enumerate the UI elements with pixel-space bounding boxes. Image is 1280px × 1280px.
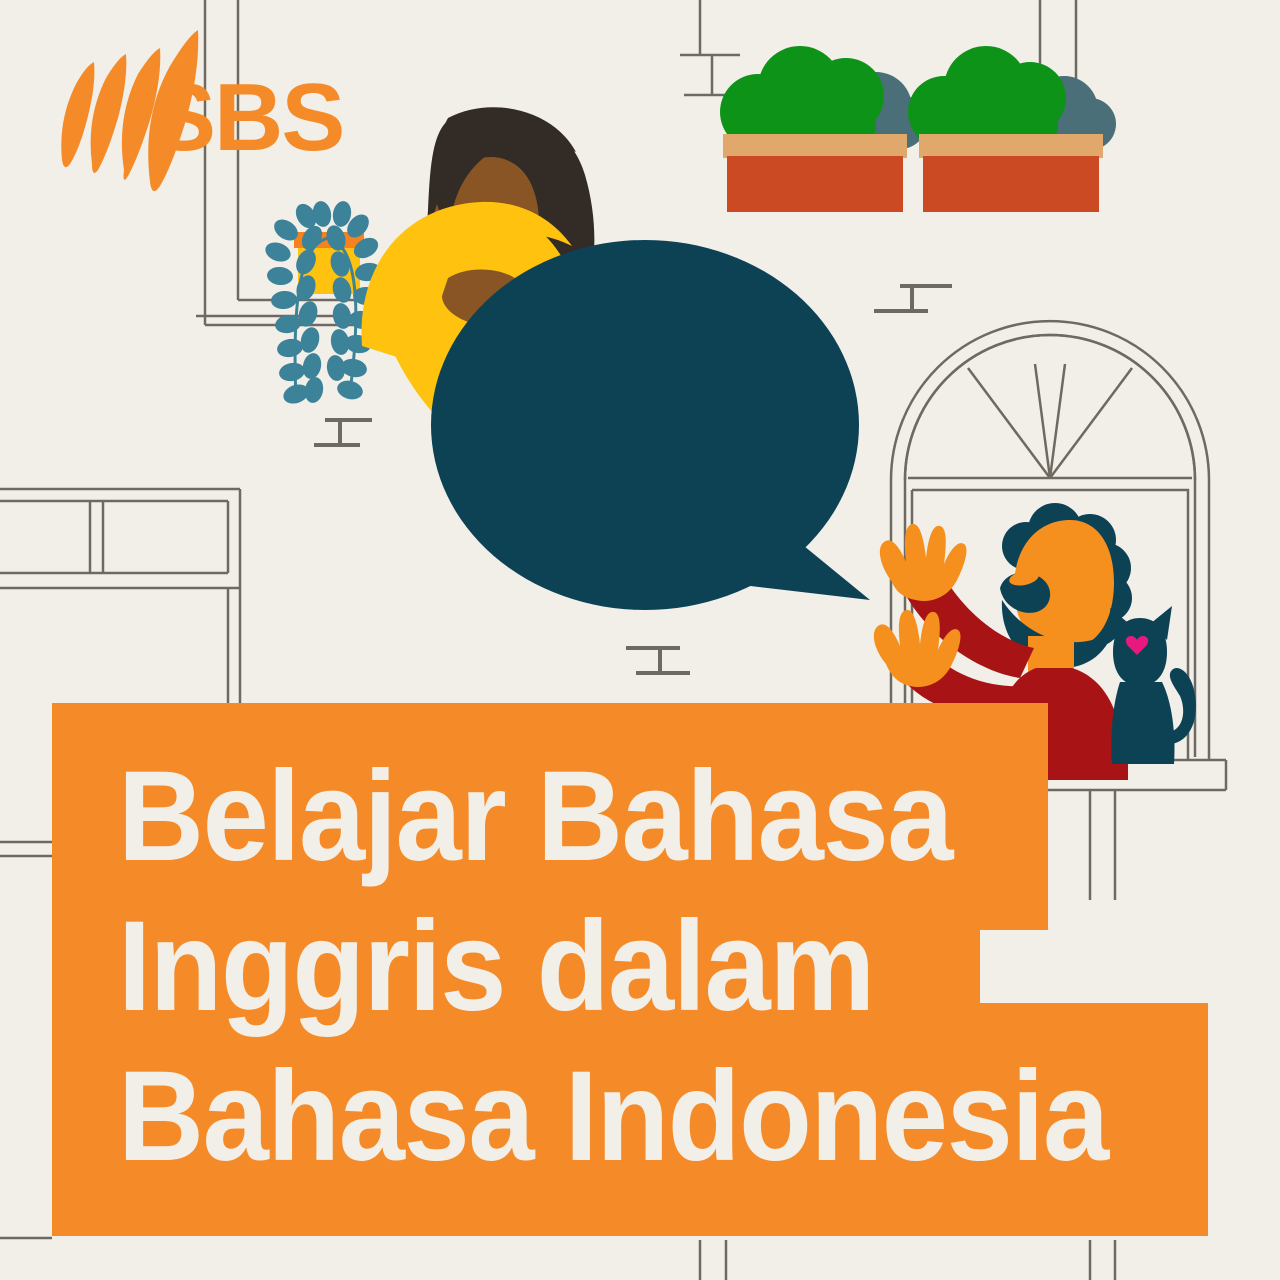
planter-body: [923, 156, 1099, 212]
cover-illustration: [0, 0, 1280, 1280]
planter-rim: [919, 134, 1103, 158]
podcast-cover-canvas: Belajar Bahasa Inggris dalam Bahasa Indo…: [0, 0, 1280, 1280]
sbs-wordmark: SBS: [152, 70, 343, 166]
planter-body: [727, 156, 903, 212]
planter-rim: [723, 134, 907, 158]
